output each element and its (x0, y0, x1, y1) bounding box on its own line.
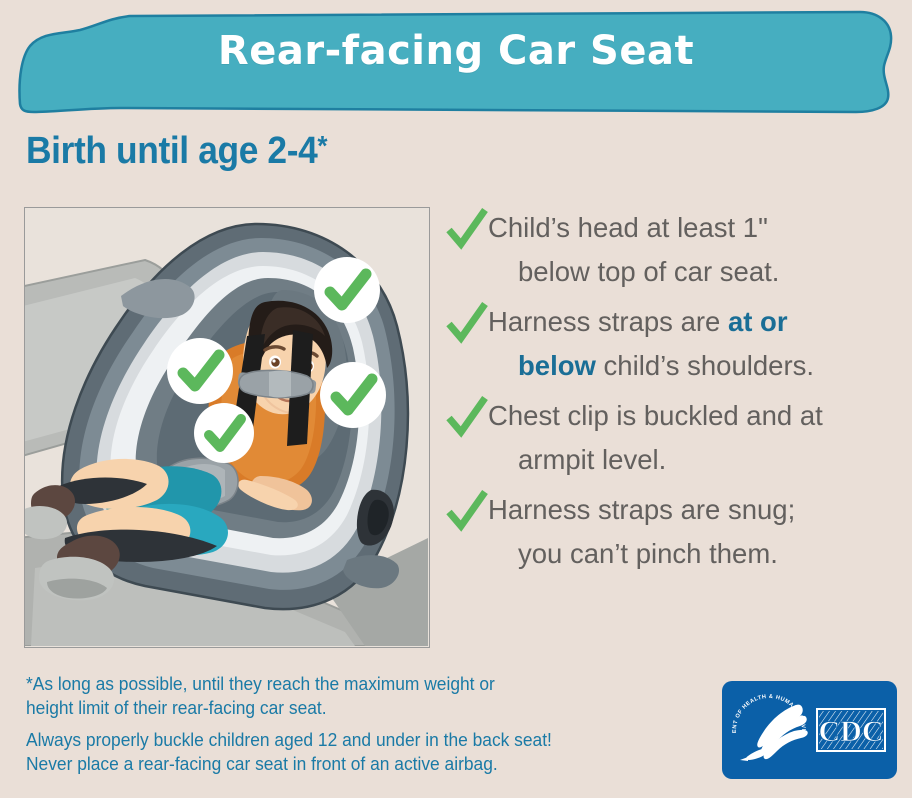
list-item-text: Chest clip is buckled and at armpit leve… (488, 394, 898, 482)
check-badge-strap-right (320, 362, 386, 428)
list-item-text: Harness straps are at or below child’s s… (488, 300, 898, 388)
cdc-logo: DEPARTMENT OF HEALTH & HUMAN SERVICES · … (722, 681, 897, 779)
list-item-line2: below top of car seat. (488, 250, 898, 294)
list-item: Harness straps are at or below child’s s… (446, 300, 898, 388)
footnote-para1-line2: height limit of their rear-facing car se… (26, 696, 665, 720)
footnote-para1-line1: *As long as possible, until they reach t… (26, 672, 665, 696)
list-item-line2: below child’s shoulders. (488, 344, 898, 388)
list-item-line1: Chest clip is buckled and at (488, 400, 823, 431)
check-icon (446, 208, 488, 252)
list-item: Chest clip is buckled and at armpit leve… (446, 394, 898, 482)
subtitle-text: Birth until age 2-4 (26, 130, 317, 172)
list-item-text: Harness straps are snug; you can’t pinch… (488, 488, 898, 576)
footnote: *As long as possible, until they reach t… (26, 672, 665, 776)
car-seat-illustration (24, 207, 430, 648)
list-item-line2-bold: below (518, 350, 596, 381)
list-item-line2-post: child’s shoulders. (596, 350, 814, 381)
list-item-line2: armpit level. (488, 438, 898, 482)
subtitle-asterisk: * (317, 130, 327, 161)
check-icon (446, 302, 488, 346)
cdc-wordmark: CDC (817, 709, 885, 751)
list-item: Child’s head at least 1" below top of ca… (446, 206, 898, 294)
check-badge-head (314, 257, 380, 323)
check-badge-buckle (194, 403, 254, 463)
list-item: Harness straps are snug; you can’t pinch… (446, 488, 898, 576)
infographic-page: Rear-facing Car Seat Birth until age 2-4… (0, 0, 912, 798)
cdc-wordmark-text: CDC (819, 715, 884, 748)
list-item-line1-pre: Harness straps are (488, 306, 728, 337)
list-item-line1-bold: at or (728, 306, 788, 337)
header-banner: Rear-facing Car Seat (0, 8, 912, 118)
checklist: Child’s head at least 1" below top of ca… (446, 206, 898, 582)
list-item-text: Child’s head at least 1" below top of ca… (488, 206, 898, 294)
list-item-line2: you can’t pinch them. (488, 532, 898, 576)
check-icon (446, 396, 488, 440)
chest-clip (237, 370, 316, 397)
check-icon (446, 490, 488, 534)
subtitle: Birth until age 2-4* (26, 130, 327, 173)
list-item-line1: Child’s head at least 1" (488, 212, 768, 243)
footnote-para2-line2: Never place a rear-facing car seat in fr… (26, 752, 665, 776)
page-title: Rear-facing Car Seat (0, 28, 912, 74)
footnote-para2-line1: Always properly buckle children aged 12 … (26, 728, 665, 752)
check-badge-strap-left (167, 338, 233, 404)
car-seat-illustration-icon (25, 208, 428, 646)
list-item-line1: Harness straps are snug; (488, 494, 795, 525)
